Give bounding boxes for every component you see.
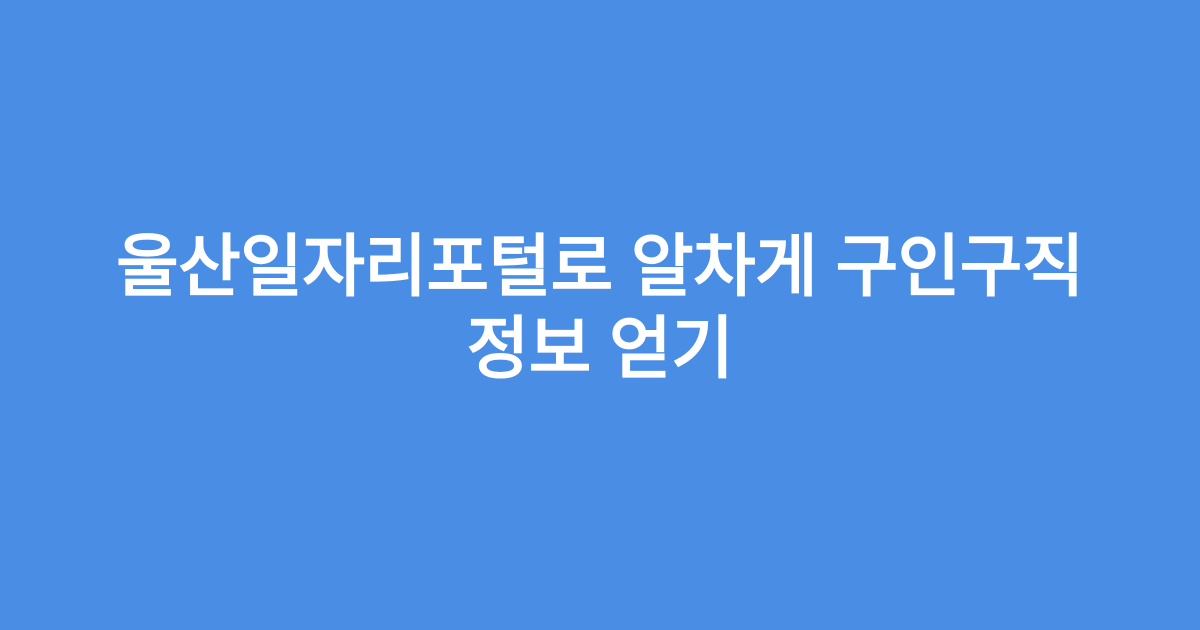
title-block: 울산일자리포털로 알차게 구인구직 정보 얻기 bbox=[100, 226, 1100, 404]
page-title: 울산일자리포털로 알차게 구인구직 정보 얻기 bbox=[100, 226, 1100, 390]
og-card: 울산일자리포털로 알차게 구인구직 정보 얻기 bbox=[0, 0, 1200, 630]
